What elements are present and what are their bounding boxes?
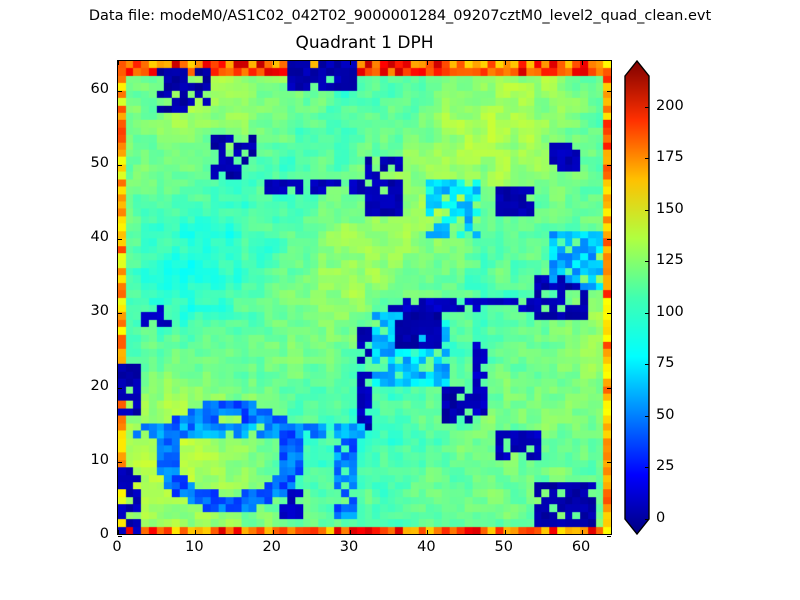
y-tick-mark: [607, 91, 611, 92]
x-tick-mark: [350, 61, 351, 65]
page-title: Quadrant 1 DPH: [117, 33, 612, 54]
y-tick-mark: [118, 462, 122, 463]
y-tick-label: 60: [57, 81, 109, 98]
y-tick-mark: [607, 462, 611, 463]
colorbar-tick-label: 200: [656, 98, 684, 115]
y-tick-label: 0: [57, 526, 109, 543]
detector-heatmap-image[interactable]: [118, 61, 611, 534]
colorbar-tick-mark: [645, 519, 649, 520]
colorbar-tick-label: 0: [656, 510, 665, 527]
x-tick-mark: [582, 530, 583, 534]
x-tick-label: 10: [164, 539, 224, 556]
y-tick-mark: [607, 165, 611, 166]
y-tick-mark: [118, 165, 122, 166]
colorbar-tick-label: 125: [656, 252, 684, 269]
x-tick-mark: [118, 530, 119, 534]
x-tick-label: 20: [242, 539, 302, 556]
y-tick-mark: [607, 313, 611, 314]
y-tick-mark: [118, 388, 122, 389]
colorbar-tick-label: 25: [656, 458, 674, 475]
x-tick-label: 40: [396, 539, 456, 556]
colorbar-tick-label: 75: [656, 355, 674, 372]
x-tick-mark: [195, 530, 196, 534]
colorbar-tick-mark: [645, 467, 649, 468]
x-tick-mark: [427, 61, 428, 65]
y-tick-label: 20: [57, 378, 109, 395]
x-tick-mark: [505, 530, 506, 534]
x-tick-mark: [118, 61, 119, 65]
figure-canvas: Data file: modeM0/AS1C02_042T02_90000012…: [0, 0, 800, 600]
y-tick-mark: [607, 388, 611, 389]
colorbar-tick-label: 150: [656, 201, 684, 218]
colorbar-tick-mark: [645, 364, 649, 365]
y-tick-mark: [607, 239, 611, 240]
colorbar-tick-mark: [645, 210, 649, 211]
y-tick-mark: [607, 536, 611, 537]
x-tick-mark: [195, 61, 196, 65]
colorbar-tick-mark: [645, 158, 649, 159]
y-tick-label: 40: [57, 229, 109, 246]
colorbar-tick-label: 175: [656, 149, 684, 166]
x-tick-mark: [350, 530, 351, 534]
colorbar-tick-label: 50: [656, 407, 674, 424]
x-tick-mark: [427, 530, 428, 534]
y-tick-mark: [118, 313, 122, 314]
x-tick-mark: [582, 61, 583, 65]
colorbar-tick-mark: [645, 107, 649, 108]
colorbar-tick-label: 100: [656, 304, 684, 321]
colorbar-gradient: [624, 60, 650, 535]
y-tick-mark: [118, 239, 122, 240]
y-tick-label: 30: [57, 303, 109, 320]
colorbar[interactable]: [625, 60, 649, 535]
colorbar-tick-mark: [645, 313, 649, 314]
x-tick-label: 30: [319, 539, 379, 556]
y-tick-label: 50: [57, 155, 109, 172]
x-tick-label: 60: [551, 539, 611, 556]
colorbar-tick-mark: [645, 261, 649, 262]
x-tick-label: 50: [474, 539, 534, 556]
x-tick-mark: [273, 61, 274, 65]
x-tick-mark: [505, 61, 506, 65]
y-tick-mark: [118, 536, 122, 537]
heatmap-axes[interactable]: [117, 60, 612, 535]
y-tick-mark: [118, 91, 122, 92]
y-tick-label: 10: [57, 452, 109, 469]
x-tick-mark: [273, 530, 274, 534]
data-file-label: Data file: modeM0/AS1C02_042T02_90000012…: [0, 7, 800, 25]
colorbar-tick-mark: [645, 416, 649, 417]
